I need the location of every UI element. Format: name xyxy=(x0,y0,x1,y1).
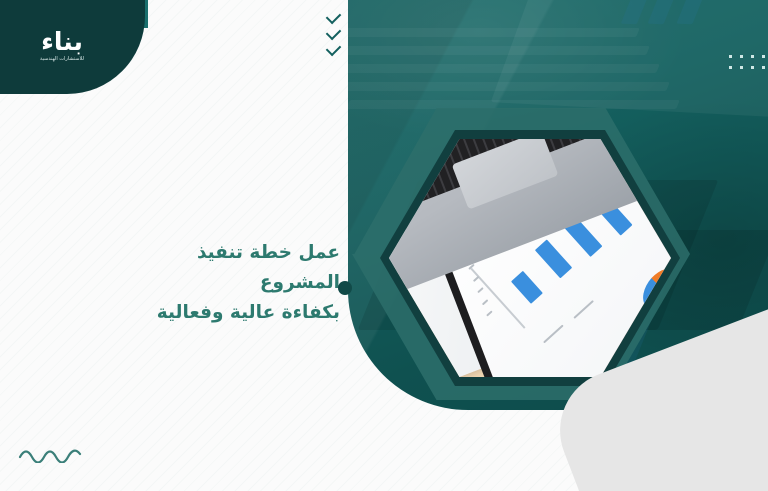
chevron-down-icon xyxy=(326,9,342,25)
headline-line-2: بكفاءة عالية وفعالية xyxy=(120,298,340,328)
dots-grid-icon xyxy=(729,55,768,77)
logo-tagline: للاستشارات الهندسية xyxy=(40,57,84,62)
wave-line-icon xyxy=(18,445,84,463)
chevron-down-icon xyxy=(326,41,342,57)
chevron-down-icon-group xyxy=(327,12,340,53)
connector-node-icon xyxy=(338,281,352,295)
poster-canvas: بناء للاستشارات الهندسية عمل خطة تنفيذ ا… xyxy=(0,0,768,491)
bina-logo[interactable]: بناء للاستشارات الهندسية xyxy=(14,26,110,64)
logo-wordmark: بناء xyxy=(41,29,83,54)
headline-line-1: عمل خطة تنفيذ المشروع xyxy=(197,242,340,293)
page-title: عمل خطة تنفيذ المشروع بكفاءة عالية وفعال… xyxy=(120,238,340,328)
chevron-down-icon xyxy=(326,25,342,41)
hero-hexagon-image xyxy=(380,130,680,386)
